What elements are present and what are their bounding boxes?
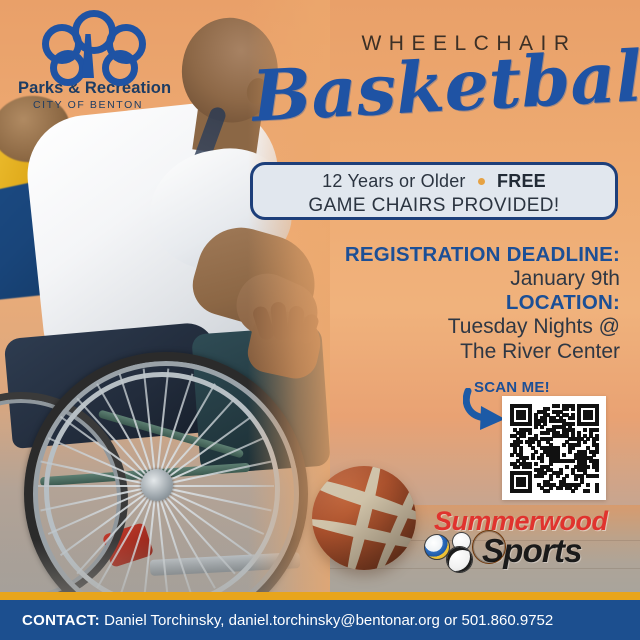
logo-name: Parks & Recreation xyxy=(18,79,158,98)
qr-module xyxy=(595,468,599,472)
qr-module xyxy=(510,453,514,457)
qr-module xyxy=(562,443,566,447)
qr-module xyxy=(574,477,578,481)
free-text: FREE xyxy=(497,171,546,191)
parks-recreation-logo: Parks & Recreation CITY OF BENTON xyxy=(18,10,158,111)
qr-module xyxy=(562,453,566,457)
qr-module xyxy=(586,489,590,493)
qr-module xyxy=(528,489,532,493)
qr-module xyxy=(534,462,538,466)
qr-module xyxy=(556,404,560,408)
info-line-chairs: GAME CHAIRS PROVIDED! xyxy=(253,195,615,217)
accent-stripe xyxy=(0,592,640,600)
location-value-line2: The River Center xyxy=(300,340,620,364)
qr-module xyxy=(556,474,560,478)
qr-module xyxy=(577,443,581,447)
qr-module xyxy=(528,431,532,435)
qr-module xyxy=(571,407,575,411)
tree-ring-lower-left xyxy=(50,50,86,86)
registration-deadline-label: REGISTRATION DEADLINE: xyxy=(300,244,620,267)
qr-module xyxy=(589,416,593,420)
ball-shading xyxy=(312,466,416,570)
qr-module xyxy=(568,450,572,454)
wheel-hub xyxy=(141,469,173,501)
qr-module xyxy=(595,489,599,493)
qr-module xyxy=(546,489,550,493)
soccer-ball-icon xyxy=(446,546,473,573)
contact-bar: CONTACT: Daniel Torchinsky, daniel.torch… xyxy=(0,600,640,640)
logo-subtitle: CITY OF BENTON xyxy=(18,99,158,111)
tree-ring-lower-right xyxy=(102,50,138,86)
qr-module xyxy=(522,416,526,420)
qr-module xyxy=(531,456,535,460)
location-label: LOCATION: xyxy=(300,292,620,315)
bullet-dot-icon xyxy=(478,178,485,185)
qr-module xyxy=(571,459,575,463)
location-value-line1: Tuesday Nights @ xyxy=(300,315,620,339)
registration-deadline-value: January 9th xyxy=(300,267,620,291)
qr-module xyxy=(583,440,587,444)
qr-module xyxy=(595,474,599,478)
qr-module xyxy=(571,489,575,493)
qr-module xyxy=(528,465,532,469)
qr-module xyxy=(540,474,544,478)
qr-code-icon[interactable] xyxy=(510,404,598,492)
flyer-canvas: Parks & Recreation CITY OF BENTON WHEELC… xyxy=(0,0,640,640)
wheel-spoke xyxy=(38,485,156,487)
qr-module xyxy=(540,425,544,429)
eligibility-info-box: 12 Years or Older FREE GAME CHAIRS PROVI… xyxy=(250,162,618,220)
age-requirement-text: 12 Years or Older xyxy=(322,171,466,191)
qr-module xyxy=(583,428,587,432)
qr-module xyxy=(565,465,569,469)
qr-module xyxy=(559,486,563,490)
qr-module xyxy=(586,483,590,487)
contact-text-wrap: CONTACT: Daniel Torchinsky, daniel.torch… xyxy=(0,612,553,629)
qr-module xyxy=(565,407,569,411)
qr-module xyxy=(534,425,538,429)
qr-module xyxy=(522,483,526,487)
qr-module xyxy=(540,459,544,463)
qr-module xyxy=(522,434,526,438)
qr-module xyxy=(595,422,599,426)
basketball-icon xyxy=(472,530,506,564)
event-details: REGISTRATION DEADLINE: January 9th LOCAT… xyxy=(300,244,620,365)
title-script: Basketball xyxy=(250,42,625,131)
parks-tree-icon xyxy=(38,10,138,76)
info-line-age: 12 Years or Older FREE xyxy=(253,171,615,192)
basketball-object xyxy=(312,466,416,570)
summerwood-sports-logo: Summerwood Sports xyxy=(420,506,620,564)
qr-module xyxy=(571,416,575,420)
contact-details: Daniel Torchinsky, daniel.torchinsky@ben… xyxy=(104,612,553,629)
qr-module xyxy=(516,465,520,469)
contact-label: CONTACT: xyxy=(22,612,100,629)
qr-module xyxy=(546,431,550,435)
qr-module xyxy=(595,428,599,432)
qr-module xyxy=(528,422,532,426)
